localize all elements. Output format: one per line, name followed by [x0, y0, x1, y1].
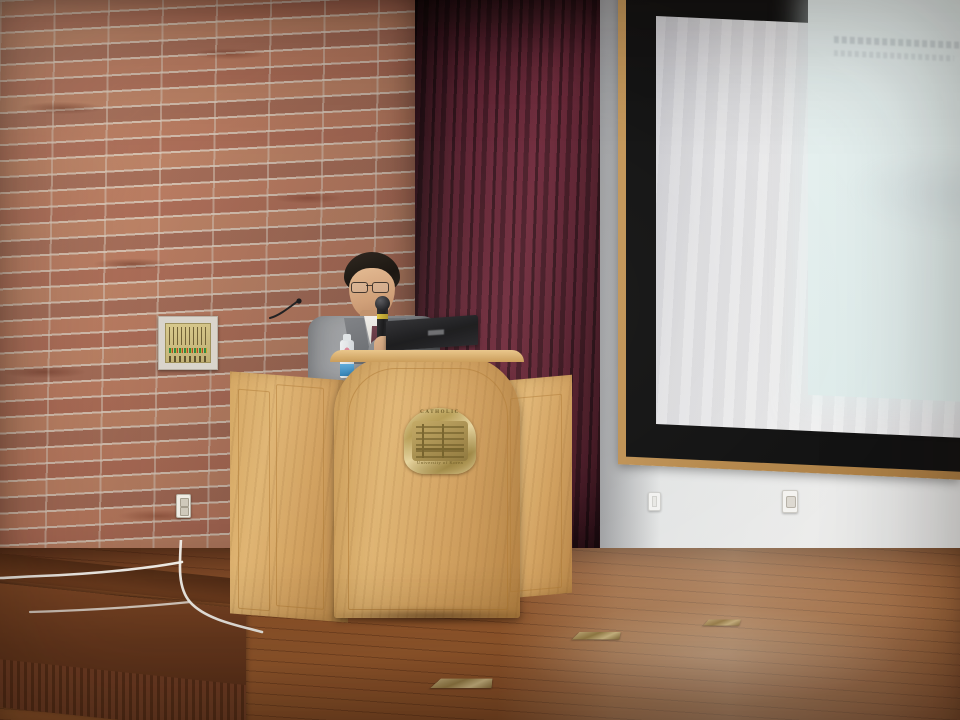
- wall-outlet-right: [782, 490, 798, 513]
- projection-screen-surface: [656, 16, 960, 438]
- glasses-right-lens: [372, 282, 389, 293]
- projected-slide: [808, 0, 960, 402]
- podium-base-shadow: [326, 608, 534, 624]
- slide-text-line-1: [834, 36, 960, 51]
- water-bottle-cap: [343, 334, 351, 341]
- glasses-left-lens: [351, 282, 368, 293]
- podium-front-inset-border: [348, 368, 508, 610]
- brass-floor-plate: [572, 632, 621, 639]
- glasses-bridge: [366, 285, 372, 286]
- slide-faint-content: [848, 145, 960, 245]
- av-panel-face: [165, 323, 211, 363]
- podium-left-inset-border: [238, 389, 270, 612]
- microphone-head: [375, 296, 390, 311]
- university-crest-emblem: CATHOLIC University of Korea: [404, 408, 476, 474]
- gooseneck-microphone: [268, 298, 304, 320]
- podium: [230, 356, 570, 624]
- brass-floor-plate: [703, 620, 741, 626]
- wall-outlet-left: [176, 494, 191, 518]
- av-control-panel[interactable]: [158, 316, 218, 370]
- light-switch[interactable]: [648, 492, 661, 511]
- outlet-socket-lower: [180, 507, 189, 516]
- podium-top-edge: [330, 350, 524, 362]
- av-panel-indicator-lights: [169, 348, 207, 353]
- projection-screen-frame: [618, 0, 960, 480]
- av-panel-faders[interactable]: [169, 327, 207, 345]
- light-switch-rocker[interactable]: [652, 496, 657, 507]
- outlet-socket-upper: [180, 498, 189, 507]
- emblem-top-text: CATHOLIC: [404, 410, 476, 415]
- outlet-socket: [786, 496, 796, 508]
- photo-scene: CATHOLIC University of Korea A man in a …: [0, 0, 960, 720]
- av-panel-knobs[interactable]: [169, 356, 207, 362]
- emblem-logo-mark: [416, 424, 464, 458]
- emblem-bottom-text: University of Korea: [404, 460, 476, 465]
- podium-left-inset-border: [276, 384, 324, 610]
- podium-right-inset-border: [510, 394, 562, 593]
- microphone-gold-band: [377, 314, 388, 319]
- projection-screen-mat: [626, 0, 960, 472]
- brass-floor-plate: [430, 679, 492, 688]
- slide-text-line-2: [834, 50, 954, 61]
